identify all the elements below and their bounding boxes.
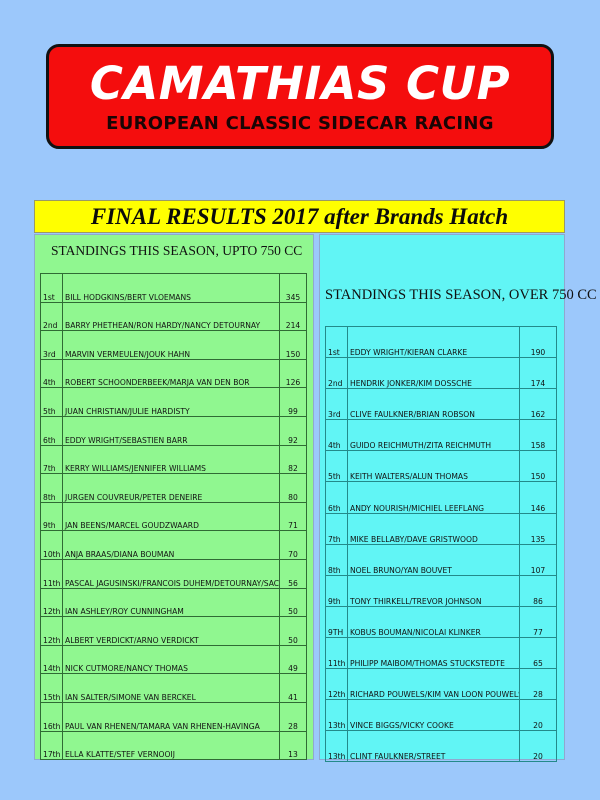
standings-row-points: 135	[520, 513, 557, 544]
standings-row-points: 50	[280, 588, 307, 617]
standings-row-points: 150	[520, 451, 557, 482]
standings-row-points: 86	[520, 575, 557, 606]
standings-row-points: 82	[280, 445, 307, 474]
standings-row-crew: PAUL VAN RHENEN/TAMARA VAN RHENEN-HAVING…	[63, 702, 280, 731]
standings-row-points: 20	[520, 731, 557, 762]
standings-row-crew: JURGEN COUVREUR/PETER DENEIRE	[63, 474, 280, 503]
standings-row-crew: KERRY WILLIAMS/JENNIFER WILLIAMS	[63, 445, 280, 474]
standings-row-crew: TONY THIRKELL/TREVOR JOHNSON	[348, 575, 520, 606]
standings-row-points: 146	[520, 482, 557, 513]
standings-row-crew: CLIVE FAULKNER/BRIAN ROBSON	[348, 389, 520, 420]
standings-row: 5thJUAN CHRISTIAN/JULIE HARDISTY99	[41, 388, 307, 417]
standings-row: 2ndHENDRIK JONKER/KIM DOSSCHE174	[326, 358, 557, 389]
standings-row: 3rdCLIVE FAULKNER/BRIAN ROBSON162	[326, 389, 557, 420]
final-results-bar: FINAL RESULTS 2017 after Brands Hatch	[34, 200, 565, 233]
standings-row-position: 3rd	[326, 389, 348, 420]
standings-row-points: 214	[280, 302, 307, 331]
standings-row: 1stBILL HODGKINS/BERT VLOEMANS345	[41, 274, 307, 303]
standings-row-position: 4th	[41, 359, 63, 388]
standings-row-crew: RICHARD POUWELS/KIM VAN LOON POUWELS	[348, 669, 520, 700]
standings-row-points: 162	[520, 389, 557, 420]
standings-row-position: 17th	[41, 731, 63, 760]
standings-row-points: 126	[280, 359, 307, 388]
standings-row: 9THKOBUS BOUMAN/NICOLAI KLINKER77	[326, 606, 557, 637]
standings-row-position: 11th	[326, 637, 348, 668]
standings-row-points: 150	[280, 331, 307, 360]
standings-row: 6thEDDY WRIGHT/SEBASTIEN BARR92	[41, 416, 307, 445]
standings-row-crew: GUIDO REICHMUTH/ZITA REICHMUTH	[348, 420, 520, 451]
standings-row-crew: BARRY PHETHEAN/RON HARDY/NANCY DETOURNAY	[63, 302, 280, 331]
standings-row-crew: ANJA BRAAS/DIANA BOUMAN	[63, 531, 280, 560]
standings-row-position: 6th	[41, 416, 63, 445]
standings-row-points: 99	[280, 388, 307, 417]
standings-row: 7thMIKE BELLABY/DAVE GRISTWOOD135	[326, 513, 557, 544]
standings-row-position: 5th	[41, 388, 63, 417]
standings-row-crew: NOEL BRUNO/YAN BOUVET	[348, 544, 520, 575]
standings-table-upto-750-body: 1stBILL HODGKINS/BERT VLOEMANS3452ndBARR…	[41, 274, 307, 760]
standings-row-position: 12th	[41, 617, 63, 646]
standings-row-position: 8th	[41, 474, 63, 503]
standings-row: 1stEDDY WRIGHT/KIERAN CLARKE190	[326, 327, 557, 358]
standings-row-points: 49	[280, 645, 307, 674]
standings-row-position: 14th	[41, 645, 63, 674]
standings-table-upto-750: 1stBILL HODGKINS/BERT VLOEMANS3452ndBARR…	[40, 273, 307, 760]
standings-row: 15thIAN SALTER/SIMONE VAN BERCKEL41	[41, 674, 307, 703]
standings-row-position: 13th	[326, 700, 348, 731]
standings-row-position: 7th	[41, 445, 63, 474]
standings-row: 9thTONY THIRKELL/TREVOR JOHNSON86	[326, 575, 557, 606]
standings-row-crew: ANDY NOURISH/MICHIEL LEEFLANG	[348, 482, 520, 513]
standings-row-position: 1st	[41, 274, 63, 303]
standings-row: 5thKEITH WALTERS/ALUN THOMAS150	[326, 451, 557, 482]
standings-row-position: 1st	[326, 327, 348, 358]
panel-heading-over-750: STANDINGS THIS SEASON, OVER 750 CC	[325, 287, 597, 304]
standings-row-position: 6th	[326, 482, 348, 513]
final-results-title: FINAL RESULTS 2017 after Brands Hatch	[91, 204, 508, 230]
standings-row: 11thPHILIPP MAIBOM/THOMAS STUCKSTEDTE65	[326, 637, 557, 668]
standings-row-position: 8th	[326, 544, 348, 575]
standings-table-over-750-body: 1stEDDY WRIGHT/KIERAN CLARKE1902ndHENDRI…	[326, 327, 557, 762]
standings-row-crew: NICK CUTMORE/NANCY THOMAS	[63, 645, 280, 674]
standings-row-position: 13th	[326, 731, 348, 762]
standings-row: 17thELLA KLATTE/STEF VERNOOIJ13	[41, 731, 307, 760]
standings-row-crew: JAN BEENS/MARCEL GOUDZWAARD	[63, 502, 280, 531]
standings-row-points: 20	[520, 700, 557, 731]
standings-row-crew: EDDY WRIGHT/KIERAN CLARKE	[348, 327, 520, 358]
standings-row-points: 190	[520, 327, 557, 358]
standings-row-points: 158	[520, 420, 557, 451]
standings-panel-upto-750: STANDINGS THIS SEASON, UPTO 750 CC 1stBI…	[34, 234, 314, 760]
standings-row-position: 9TH	[326, 606, 348, 637]
standings-row: 14thNICK CUTMORE/NANCY THOMAS49	[41, 645, 307, 674]
standings-row-crew: HENDRIK JONKER/KIM DOSSCHE	[348, 358, 520, 389]
standings-row-position: 2nd	[326, 358, 348, 389]
standings-row-points: 50	[280, 617, 307, 646]
standings-row-crew: MARVIN VERMEULEN/JOUK HAHN	[63, 331, 280, 360]
standings-row-crew: KOBUS BOUMAN/NICOLAI KLINKER	[348, 606, 520, 637]
standings-row-points: 28	[520, 669, 557, 700]
standings-row-points: 65	[520, 637, 557, 668]
panel-heading-upto-750: STANDINGS THIS SEASON, UPTO 750 CC	[51, 243, 302, 259]
standings-row: 7thKERRY WILLIAMS/JENNIFER WILLIAMS82	[41, 445, 307, 474]
standings-row-position: 9th	[41, 502, 63, 531]
standings-row-crew: ROBERT SCHOONDERBEEK/MARJA VAN DEN BOR	[63, 359, 280, 388]
standings-row-points: 107	[520, 544, 557, 575]
standings-row-position: 10th	[41, 531, 63, 560]
standings-row-points: 41	[280, 674, 307, 703]
standings-row-position: 9th	[326, 575, 348, 606]
standings-row: 8thJURGEN COUVREUR/PETER DENEIRE80	[41, 474, 307, 503]
standings-row-position: 5th	[326, 451, 348, 482]
standings-row: 11thPASCAL JAGUSINSKI/FRANCOIS DUHEM/DET…	[41, 559, 307, 588]
standings-row-crew: PASCAL JAGUSINSKI/FRANCOIS DUHEM/DETOURN…	[63, 559, 280, 588]
standings-row-position: 16th	[41, 702, 63, 731]
standings-row: 4thROBERT SCHOONDERBEEK/MARJA VAN DEN BO…	[41, 359, 307, 388]
standings-row-crew: CLINT FAULKNER/STREET	[348, 731, 520, 762]
standings-row-position: 15th	[41, 674, 63, 703]
standings-row-position: 4th	[326, 420, 348, 451]
standings-row-crew: ELLA KLATTE/STEF VERNOOIJ	[63, 731, 280, 760]
standings-panel-over-750: STANDINGS THIS SEASON, OVER 750 CC 1stED…	[319, 234, 565, 760]
standings-row: 10thANJA BRAAS/DIANA BOUMAN70	[41, 531, 307, 560]
standings-row-points: 174	[520, 358, 557, 389]
standings-row: 12thRICHARD POUWELS/KIM VAN LOON POUWELS…	[326, 669, 557, 700]
standings-row-crew: MIKE BELLABY/DAVE GRISTWOOD	[348, 513, 520, 544]
standings-row-crew: PHILIPP MAIBOM/THOMAS STUCKSTEDTE	[348, 637, 520, 668]
standings-row: 6thANDY NOURISH/MICHIEL LEEFLANG146	[326, 482, 557, 513]
standings-row-position: 12th	[41, 588, 63, 617]
standings-row-points: 77	[520, 606, 557, 637]
standings-row: 2ndBARRY PHETHEAN/RON HARDY/NANCY DETOUR…	[41, 302, 307, 331]
standings-row: 12thALBERT VERDICKT/ARNO VERDICKT50	[41, 617, 307, 646]
standings-row-crew: JUAN CHRISTIAN/JULIE HARDISTY	[63, 388, 280, 417]
standings-row: 13thVINCE BIGGS/VICKY COOKE20	[326, 700, 557, 731]
standings-row: 16thPAUL VAN RHENEN/TAMARA VAN RHENEN-HA…	[41, 702, 307, 731]
event-banner: CAMATHIAS CUP EUROPEAN CLASSIC SIDECAR R…	[46, 44, 554, 149]
standings-row-position: 7th	[326, 513, 348, 544]
standings-row-points: 13	[280, 731, 307, 760]
standings-row-crew: BILL HODGKINS/BERT VLOEMANS	[63, 274, 280, 303]
standings-row: 3rdMARVIN VERMEULEN/JOUK HAHN150	[41, 331, 307, 360]
standings-row-points: 80	[280, 474, 307, 503]
standings-row: 4thGUIDO REICHMUTH/ZITA REICHMUTH158	[326, 420, 557, 451]
standings-row-points: 71	[280, 502, 307, 531]
standings-row-points: 56	[280, 559, 307, 588]
standings-row: 13thCLINT FAULKNER/STREET20	[326, 731, 557, 762]
standings-row-position: 2nd	[41, 302, 63, 331]
standings-row: 8thNOEL BRUNO/YAN BOUVET107	[326, 544, 557, 575]
standings-row-crew: ALBERT VERDICKT/ARNO VERDICKT	[63, 617, 280, 646]
standings-row-points: 92	[280, 416, 307, 445]
standings-row-points: 70	[280, 531, 307, 560]
standings-row-crew: KEITH WALTERS/ALUN THOMAS	[348, 451, 520, 482]
event-title: CAMATHIAS CUP	[90, 59, 510, 109]
standings-row-crew: VINCE BIGGS/VICKY COOKE	[348, 700, 520, 731]
standings-row: 9thJAN BEENS/MARCEL GOUDZWAARD71	[41, 502, 307, 531]
standings-row-crew: IAN ASHLEY/ROY CUNNINGHAM	[63, 588, 280, 617]
event-subtitle: EUROPEAN CLASSIC SIDECAR RACING	[106, 113, 494, 135]
standings-row-points: 28	[280, 702, 307, 731]
standings-row: 12thIAN ASHLEY/ROY CUNNINGHAM50	[41, 588, 307, 617]
standings-row-position: 3rd	[41, 331, 63, 360]
standings-row-position: 12th	[326, 669, 348, 700]
standings-row-crew: IAN SALTER/SIMONE VAN BERCKEL	[63, 674, 280, 703]
standings-row-crew: EDDY WRIGHT/SEBASTIEN BARR	[63, 416, 280, 445]
standings-row-position: 11th	[41, 559, 63, 588]
standings-row-points: 345	[280, 274, 307, 303]
standings-table-over-750: 1stEDDY WRIGHT/KIERAN CLARKE1902ndHENDRI…	[325, 326, 557, 762]
